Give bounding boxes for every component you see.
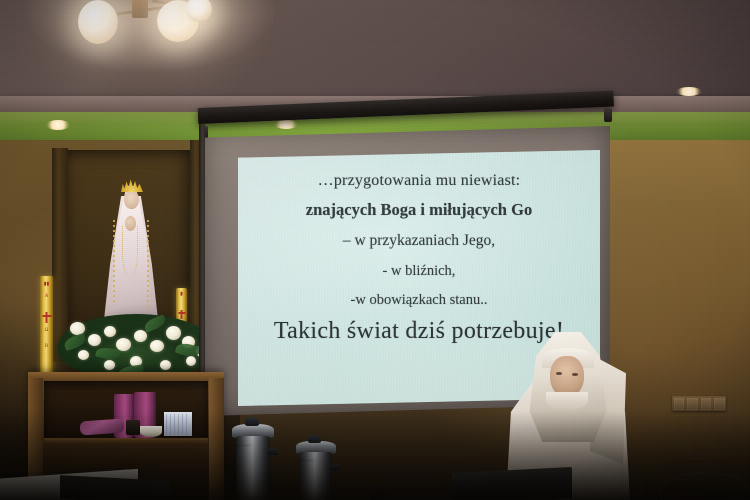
candle-marking: ▮: [180, 292, 183, 298]
slide-line-2: znających Boga i miłujących Go: [238, 200, 600, 220]
rose-icon: [134, 330, 147, 342]
candle-marking: Ω: [45, 328, 49, 334]
rose-icon: [160, 360, 171, 370]
paschal-candle-left: ▮▮ A Ω R: [40, 276, 53, 380]
slide-line-1: …przygotowania mu niewiast:: [238, 172, 600, 190]
rose-icon: [166, 326, 181, 340]
wall-light-switch-plate[interactable]: [672, 396, 726, 411]
statue-face: [124, 190, 139, 209]
slide-line-3: – w przykazaniach Jego,: [238, 232, 600, 250]
light-switch-key[interactable]: [701, 398, 712, 410]
statue-gold-trim: [113, 220, 115, 304]
cross-icon: [178, 310, 185, 319]
downlight-icon: [274, 120, 298, 129]
candle-marking: A: [45, 294, 49, 300]
crown-icon: [121, 178, 143, 192]
slide-line-4: - w bliźnich,: [238, 263, 600, 280]
downlight-icon: [676, 87, 702, 96]
foreground-shadow: [0, 410, 750, 500]
downlight-icon: [46, 120, 70, 130]
light-socket: [132, 0, 148, 18]
nun-eye: [556, 372, 562, 375]
nun-chin-veil: [546, 392, 588, 410]
candle-marking: ▮▮: [44, 282, 50, 288]
candle-marking: R: [45, 344, 48, 350]
housing-end-cap: [604, 108, 612, 122]
slide-line-5: -w obowiązkach stanu..: [238, 292, 600, 309]
our-lady-of-fatima-statue: [92, 168, 172, 338]
rosary-icon: [122, 226, 138, 278]
photo-scene: ▮▮ A Ω R ▮ A …przygotowania mu niewiast:…: [0, 0, 750, 500]
alcove-pillar-left: [52, 148, 68, 362]
rose-icon: [88, 334, 101, 346]
cabinet-top: [28, 372, 224, 381]
light-switch-key[interactable]: [714, 398, 725, 410]
rose-icon: [150, 340, 164, 352]
light-switch-key[interactable]: [674, 398, 685, 410]
rose-icon: [78, 350, 89, 360]
rose-icon: [104, 360, 115, 370]
statue-gold-trim: [147, 220, 149, 308]
rose-icon: [186, 356, 196, 366]
nun-eye: [572, 373, 578, 376]
cross-icon: [42, 312, 51, 323]
rose-icon: [116, 338, 131, 351]
rose-icon: [104, 326, 116, 337]
light-globe-icon: [78, 0, 118, 44]
light-switch-key[interactable]: [687, 398, 698, 410]
